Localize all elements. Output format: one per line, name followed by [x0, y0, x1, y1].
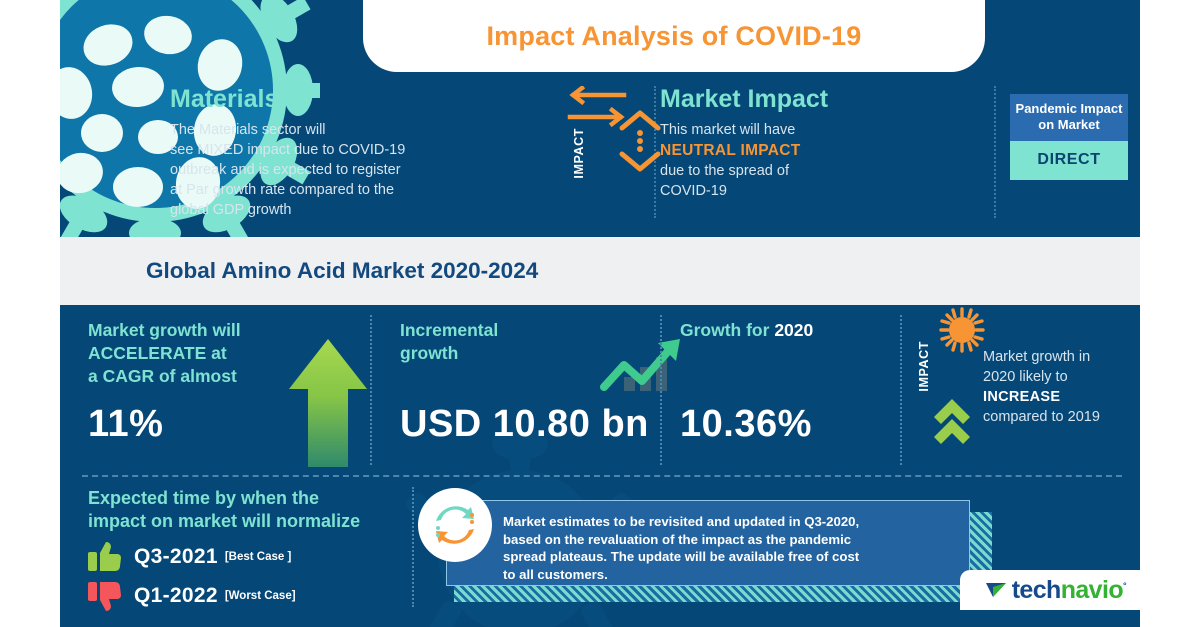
refresh-update-icon [432, 502, 478, 548]
materials-body-line-5: global GDP growth [170, 200, 485, 220]
logo-trademark: ° [1123, 580, 1126, 590]
stat-cagr-value: 11% [88, 405, 163, 443]
note-line-2: based on the revaluation of the impact a… [503, 531, 953, 549]
expected-time-block: Expected time by when the impact on mark… [88, 487, 448, 611]
stats-divider-2 [660, 315, 662, 465]
best-case-row: Q3-2021 [Best Case ] [88, 542, 448, 572]
up-down-chevrons-icon [615, 110, 665, 172]
stats-divider-1 [370, 315, 372, 465]
note-icon-circle [418, 488, 492, 562]
thumbs-up-icon [88, 542, 122, 572]
infographic-root: Impact Analysis of COVID-19 Materials Th… [0, 0, 1200, 627]
stat-growth-value: 10.36% [680, 405, 812, 443]
badge-title-line-1: Pandemic Impact [1014, 101, 1124, 117]
bottom-divider-dotted [412, 487, 414, 607]
note-line-1: Market estimates to be revisited and upd… [503, 513, 953, 531]
impact-label-left: IMPACT [572, 128, 586, 179]
stat-cagr: Market growth will ACCELERATE at a CAGR … [88, 319, 333, 387]
note-box: Market estimates to be revisited and upd… [446, 500, 970, 586]
header-banner: Impact Analysis of COVID-19 [363, 0, 985, 72]
best-case-tag: [Best Case ] [225, 551, 291, 563]
stat-growth-label: Growth for 2020 [680, 319, 910, 342]
stat-growth-label-text: Growth for [680, 320, 769, 340]
technavio-flag-icon [986, 581, 1008, 599]
market-impact-highlight: NEUTRAL IMPACT [660, 142, 801, 159]
expected-time-heading-line-1: Expected time by when the [88, 488, 319, 508]
materials-body: The Materials sector will see MIXED impa… [170, 120, 485, 220]
note-wrapper: Market estimates to be revisited and upd… [432, 492, 992, 602]
worst-case-quarter: Q1-2022 [134, 584, 218, 608]
divider-dotted-2 [994, 86, 996, 218]
market-impact-title: Market Impact [660, 86, 910, 114]
right-impact-highlight: INCREASE [983, 389, 1060, 405]
market-title: Global Amino Acid Market 2020-2024 [146, 258, 538, 284]
market-impact-line-1: This market will have [660, 120, 910, 140]
materials-body-line-2: see MIXED impact due to COVID-19 [170, 140, 485, 160]
materials-body-line-4: at Par growth rate compared to the [170, 180, 485, 200]
market-impact-line-2: due to the spread of [660, 161, 910, 181]
right-impact-line-3: compared to 2019 [983, 407, 1139, 427]
pandemic-impact-badge: Pandemic Impact on Market DIRECT [1010, 94, 1128, 180]
expected-time-heading-line-2: impact on market will normalize [88, 511, 360, 531]
stats-divider-3 [900, 315, 902, 465]
right-impact-block: IMPACT Market growth in 2020 likely to I… [915, 309, 1140, 469]
logo-part-1: tech [1012, 576, 1061, 604]
up-arrow-icon [288, 337, 368, 469]
materials-body-line-1: The Materials sector will [170, 120, 485, 140]
note-line-3: spread plateaus. The update will be avai… [503, 548, 953, 566]
line-chart-up-icon [600, 337, 688, 399]
materials-block: Materials The Materials sector will see … [170, 86, 485, 220]
stat-growth-2020: Growth for 2020 10.36% [680, 319, 910, 342]
impact-row: Materials The Materials sector will see … [60, 72, 1140, 232]
materials-body-line-3: outbreak and is expected to register [170, 160, 485, 180]
stat-incremental: Incremental growth USD 10.80 bn [400, 319, 675, 365]
page-title: Impact Analysis of COVID-19 [486, 21, 861, 52]
impact-label-right: IMPACT [917, 341, 931, 392]
worst-case-row: Q1-2022 [Worst Case] [88, 581, 448, 611]
right-impact-text: Market growth in 2020 likely to INCREASE… [983, 347, 1139, 427]
coronavirus-icon [939, 307, 985, 353]
worst-case-tag: [Worst Case] [225, 590, 296, 602]
best-case-quarter: Q3-2021 [134, 545, 218, 569]
badge-value: DIRECT [1010, 141, 1128, 180]
materials-title: Materials [170, 86, 485, 114]
double-chevron-up-icon [933, 397, 971, 455]
thumbs-down-icon [88, 581, 122, 611]
right-impact-line-1: Market growth in [983, 347, 1139, 367]
market-impact-line-3: COVID-19 [660, 181, 910, 201]
technavio-logo: technavio° [960, 570, 1140, 610]
market-impact-body: This market will have NEUTRAL IMPACT due… [660, 120, 910, 201]
stat-incremental-value: USD 10.80 bn [400, 405, 649, 443]
technavio-logo-text: technavio° [1012, 576, 1126, 605]
stats-row: Market growth will ACCELERATE at a CAGR … [60, 305, 1140, 475]
bottom-divider-dashed [82, 475, 1122, 477]
logo-part-2: navio [1061, 576, 1123, 604]
market-title-band: Global Amino Acid Market 2020-2024 [60, 237, 1140, 305]
right-impact-line-2: 2020 likely to [983, 367, 1139, 387]
note-line-4: to all customers. [503, 566, 953, 584]
badge-title-line-2: on Market [1014, 117, 1124, 133]
stat-growth-label-year: 2020 [774, 320, 813, 340]
expected-time-heading: Expected time by when the impact on mark… [88, 487, 448, 533]
badge-title: Pandemic Impact on Market [1010, 94, 1128, 141]
market-impact-block: Market Impact This market will have NEUT… [660, 86, 910, 201]
main-card: Impact Analysis of COVID-19 Materials Th… [60, 0, 1140, 627]
